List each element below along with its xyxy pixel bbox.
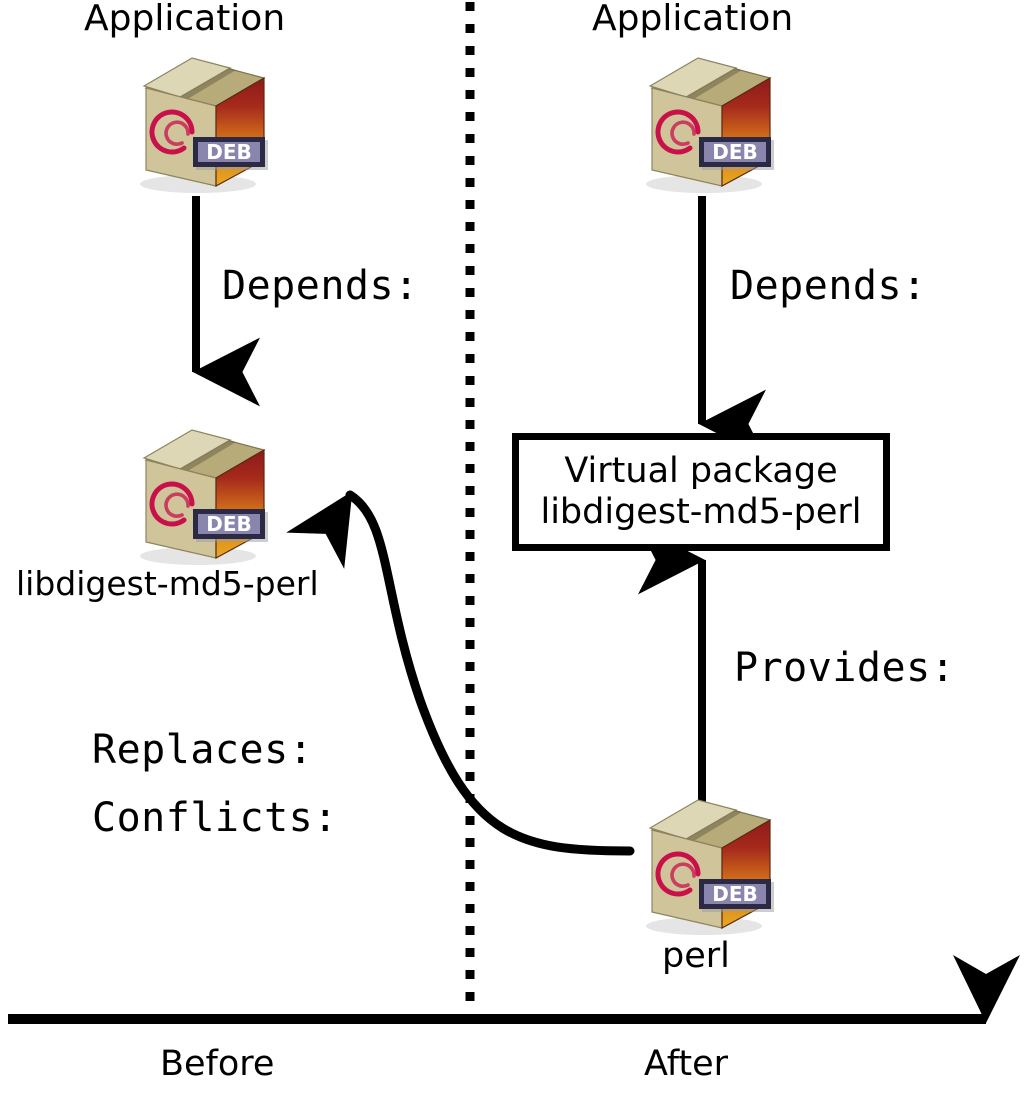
- conflicts-label: Conflicts:: [92, 795, 338, 841]
- perl-label: perl: [662, 938, 730, 976]
- replaces-label: Replaces:: [92, 727, 313, 773]
- provides-label: Provides:: [734, 645, 955, 691]
- before-application-package-icon: [118, 48, 278, 198]
- before-axis-label: Before: [160, 1046, 274, 1084]
- virtual-package-line-1: Virtual package: [564, 451, 837, 492]
- virtual-package-box: Virtual package libdigest-md5-perl: [512, 433, 890, 551]
- after-perl-package-icon: [624, 790, 784, 940]
- before-application-label: Application: [84, 0, 285, 39]
- after-depends-label: Depends:: [730, 263, 927, 309]
- after-application-label: Application: [592, 0, 793, 39]
- after-application-package-icon: [624, 48, 784, 198]
- before-libdigest-label: libdigest-md5-perl: [16, 566, 319, 602]
- before-libdigest-package-icon: [118, 420, 278, 570]
- diagram-canvas: DEB Virtual package libdigest-md5-perl: [0, 0, 1024, 1094]
- before-depends-label: Depends:: [222, 263, 419, 309]
- after-axis-label: After: [644, 1046, 728, 1084]
- virtual-package-line-2: libdigest-md5-perl: [540, 492, 861, 533]
